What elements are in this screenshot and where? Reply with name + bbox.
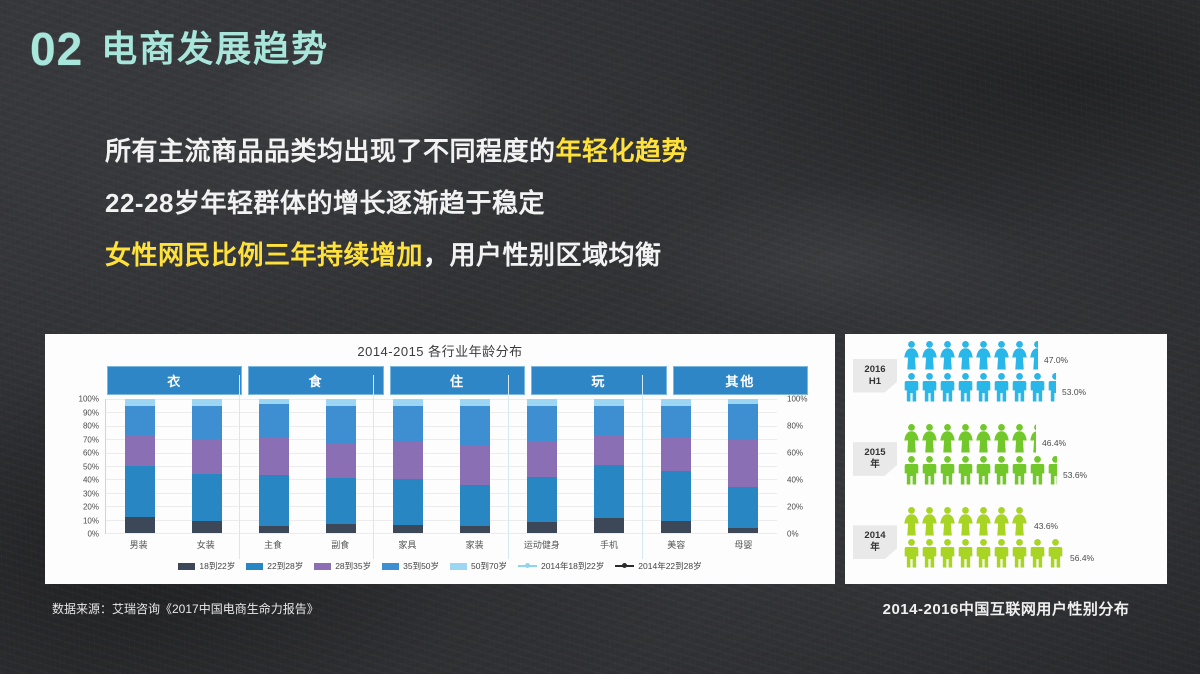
y-tick-left: 40%: [83, 476, 99, 485]
female-figure-icon: [903, 340, 920, 375]
female-figure-icon-partial: [1029, 340, 1038, 375]
bullet-item: 女性网民比例三年持续增加，用户性别区域均衡: [105, 242, 925, 268]
male-figure-icon: [939, 372, 956, 407]
y-tick-left: 10%: [83, 516, 99, 525]
y-tick-right: 20%: [787, 503, 803, 512]
plot-canvas: [105, 399, 777, 534]
gender-chart-caption: 2014-2016中国互联网用户性别分布: [845, 598, 1167, 619]
age-distribution-chart-panel: 2014-2015 各行业年龄分布 衣食住玩其他 100%90%80%70%60…: [45, 334, 835, 584]
male-figure-icon: [1011, 455, 1028, 490]
category-group-4: 其他: [673, 366, 808, 395]
male-figure-icon: [957, 538, 974, 573]
male-figure-icon: [957, 455, 974, 490]
bullet-item: 所有主流商品品类均出现了不同程度的年轻化趋势: [105, 138, 925, 164]
y-tick-left: 80%: [83, 422, 99, 431]
bullet-text-plain: 所有主流商品品类均出现了不同程度的: [105, 136, 556, 166]
gender-row-2: 2014年43.6%56.4%: [845, 501, 1167, 584]
male-figure-icon: [993, 372, 1010, 407]
gender-row-1: 2015年46.4%53.6%: [845, 417, 1167, 500]
bullet-item: 22-28岁年轻群体的增长逐渐趋于稳定: [105, 190, 925, 216]
y-tick-left: 90%: [83, 408, 99, 417]
page-title: 电商发展趋势: [101, 31, 329, 67]
male-figure-icon-partial: [1047, 455, 1057, 490]
bullet-text-highlight: 年轻化趋势: [556, 136, 689, 166]
male-figure-icon: [1029, 372, 1046, 407]
male-figure-icon: [975, 538, 992, 573]
female-figure-icon: [903, 506, 920, 541]
bullet-text-tail: ，用户性别区域均衡: [423, 240, 662, 270]
slide-header: 02 电商发展趋势: [30, 26, 329, 72]
y-tick-left: 60%: [83, 449, 99, 458]
female-icon-row: 43.6%: [903, 511, 1161, 541]
female-icon-row: 47.0%: [903, 345, 1161, 375]
female-figure-icon: [975, 506, 992, 541]
male-icon-row: 53.0%: [903, 377, 1161, 407]
category-group-1: 食: [248, 366, 383, 395]
female-icon-row: 46.4%: [903, 428, 1161, 458]
y-tick-right: 60%: [787, 449, 803, 458]
male-figure-icon: [921, 455, 938, 490]
male-figure-icon: [993, 538, 1010, 573]
female-figure-icon: [939, 506, 956, 541]
year-line-1: 2014: [853, 530, 897, 542]
male-figure-icon: [993, 455, 1010, 490]
y-tick-left: 30%: [83, 489, 99, 498]
male-figure-icon: [957, 372, 974, 407]
female-figure-icon-partial: [1029, 423, 1036, 458]
chart-plot-area: 100%90%80%70%60%50%40%30%20%10%0% 100%80…: [45, 399, 835, 534]
male-figure-icon: [921, 372, 938, 407]
gender-row-0: 2016H147.0%53.0%: [845, 334, 1167, 417]
y-tick-right: 100%: [787, 395, 807, 404]
female-percentage: 47.0%: [1044, 355, 1068, 365]
female-figure-icon: [975, 340, 992, 375]
year-line-2: 年: [853, 542, 897, 554]
male-percentage: 56.4%: [1070, 553, 1094, 563]
gender-icon-rows: 47.0%53.0%: [903, 345, 1161, 407]
male-icon-row: 53.6%: [903, 460, 1161, 490]
male-figure-icon: [975, 455, 992, 490]
female-figure-icon: [1011, 506, 1028, 541]
male-figure-icon: [903, 455, 920, 490]
bullet-text-plain: 22-28岁年轻群体的增长逐渐趋于稳定: [105, 188, 545, 218]
y-axis-left: 100%90%80%70%60%50%40%30%20%10%0%: [59, 399, 99, 534]
gender-row-year-label: 2016H1: [853, 359, 897, 393]
female-figure-icon: [957, 423, 974, 458]
male-figure-icon: [903, 538, 920, 573]
female-figure-icon: [903, 423, 920, 458]
female-figure-icon: [957, 506, 974, 541]
category-group-3: 玩: [531, 366, 666, 395]
y-tick-left: 70%: [83, 435, 99, 444]
male-figure-icon: [1029, 455, 1046, 490]
male-figure-icon: [1029, 538, 1046, 573]
female-figure-icon: [993, 506, 1010, 541]
year-line-1: 2015: [853, 447, 897, 459]
y-tick-right: 40%: [787, 476, 803, 485]
female-figure-icon: [939, 340, 956, 375]
category-group-header: 衣食住玩其他: [107, 366, 808, 395]
year-line-2: H1: [853, 376, 897, 388]
bullet-list: 所有主流商品品类均出现了不同程度的年轻化趋势 22-28岁年轻群体的增长逐渐趋于…: [105, 138, 925, 294]
male-figure-icon: [1011, 538, 1028, 573]
y-tick-left: 100%: [79, 395, 99, 404]
section-number: 02: [30, 26, 83, 72]
y-axis-right: 100%80%60%40%20%0%: [787, 399, 827, 534]
female-figure-icon: [993, 423, 1010, 458]
male-figure-icon-partial: [1047, 372, 1056, 407]
male-figure-icon: [1011, 372, 1028, 407]
female-figure-icon: [1011, 340, 1028, 375]
y-tick-left: 50%: [83, 462, 99, 471]
gender-row-year-label: 2014年: [853, 525, 897, 559]
male-percentage: 53.0%: [1062, 387, 1086, 397]
legend-line-marker: [518, 562, 537, 570]
female-figure-icon: [921, 423, 938, 458]
y-tick-left: 20%: [83, 503, 99, 512]
female-figure-icon: [921, 340, 938, 375]
gender-distribution-panel: 2016H147.0%53.0%2015年46.4%53.6%2014年43.6…: [845, 334, 1167, 584]
female-figure-icon: [921, 506, 938, 541]
female-percentage: 46.4%: [1042, 438, 1066, 448]
female-figure-icon: [993, 340, 1010, 375]
bullet-text-highlight: 女性网民比例三年持续增加: [105, 240, 423, 270]
male-figure-icon: [1047, 538, 1064, 573]
legend-line-marker: [615, 562, 634, 570]
y-tick-left: 0%: [87, 530, 99, 539]
male-figure-icon: [921, 538, 938, 573]
line-series-overlay: [106, 399, 777, 674]
chart-title: 2014-2015 各行业年龄分布: [45, 334, 835, 360]
y-tick-right: 0%: [787, 530, 799, 539]
category-group-0: 衣: [107, 366, 242, 395]
male-percentage: 53.6%: [1063, 470, 1087, 480]
gender-icon-rows: 46.4%53.6%: [903, 428, 1161, 490]
female-figure-icon: [975, 423, 992, 458]
male-figure-icon: [903, 372, 920, 407]
female-percentage: 43.6%: [1034, 521, 1058, 531]
female-figure-icon: [957, 340, 974, 375]
male-figure-icon: [975, 372, 992, 407]
year-line-1: 2016: [853, 364, 897, 376]
female-figure-icon: [939, 423, 956, 458]
male-figure-icon: [939, 538, 956, 573]
female-figure-icon: [1011, 423, 1028, 458]
y-tick-right: 80%: [787, 422, 803, 431]
year-line-2: 年: [853, 459, 897, 471]
gender-row-year-label: 2015年: [853, 442, 897, 476]
gender-icon-rows: 43.6%56.4%: [903, 511, 1161, 573]
male-figure-icon: [939, 455, 956, 490]
category-group-2: 住: [390, 366, 525, 395]
male-icon-row: 56.4%: [903, 543, 1161, 573]
source-caption: 数据来源：艾瑞咨询《2017中国电商生命力报告》: [52, 600, 319, 617]
